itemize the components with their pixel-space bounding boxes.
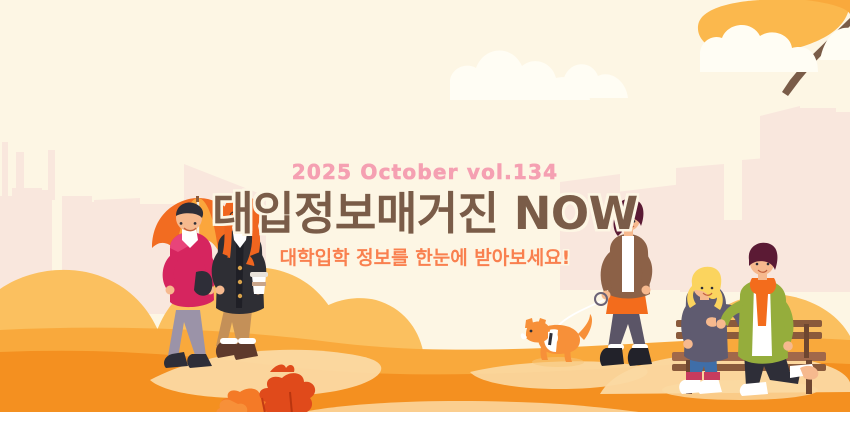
fallen-leaves-layer [0, 0, 850, 431]
bottom-white-strip [0, 412, 850, 431]
autumn-magazine-hero-banner: 2025 October vol.134 대입정보매거진 NOW 대학입학 정보… [0, 0, 850, 431]
